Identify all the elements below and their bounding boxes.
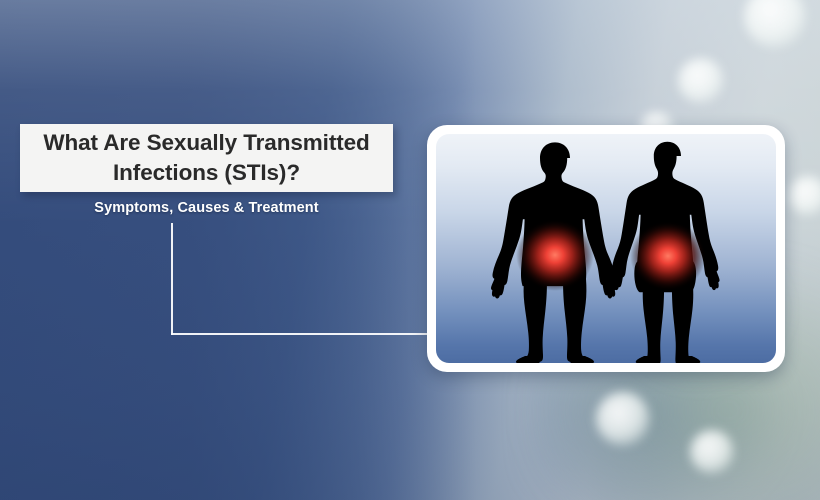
illustration-panel [436,134,776,363]
title-card: What Are Sexually Transmitted Infections… [20,124,393,192]
connector-line-vertical [171,223,173,335]
page-title: What Are Sexually Transmitted Infections… [33,128,379,187]
bokeh-light-2 [678,58,724,104]
human-silhouettes-figure [436,134,776,363]
pain-glow-female [630,221,706,291]
bokeh-light-5 [596,392,650,446]
connector-line-horizontal [171,333,429,335]
illustration-card [427,125,785,372]
bokeh-light-4 [788,176,820,216]
silhouettes-svg [436,134,776,363]
infographic-canvas: What Are Sexually Transmitted Infections… [0,0,820,500]
pain-glow-male [516,219,594,291]
bokeh-light-6 [690,430,734,474]
page-subtitle: Symptoms, Causes & Treatment [20,200,393,216]
